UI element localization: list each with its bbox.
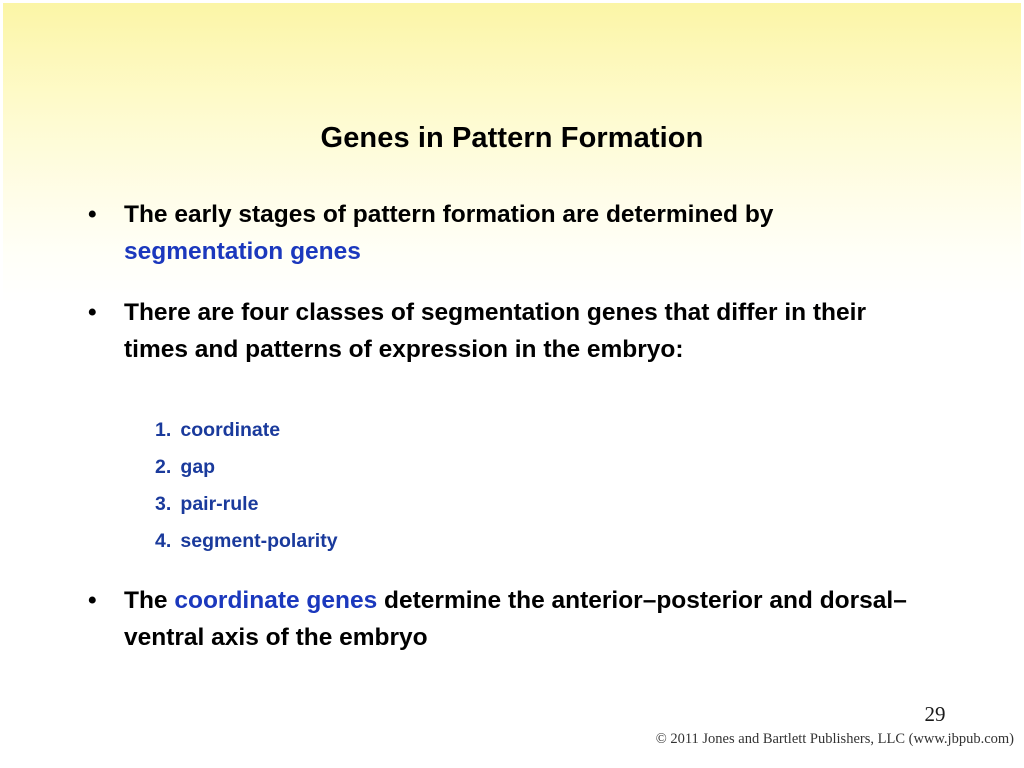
bullet-item-1: • The early stages of pattern formation … (86, 196, 922, 270)
list-item: 4. segment-polarity (155, 523, 655, 560)
page-title: Genes in Pattern Formation (0, 122, 1024, 155)
list-item-number: 1. (155, 412, 175, 449)
bullet-3-emphasis-text: coordinate genes (174, 587, 377, 614)
bullet-item-2: • There are four classes of segmentation… (86, 294, 922, 368)
slide-content: Genes in Pattern Formation • The early s… (0, 0, 1024, 768)
bullet-text-2: • There are four classes of segmentation… (86, 294, 922, 368)
segmentation-gene-class-list: 1. coordinate 2. gap 3. pair-rule 4. seg… (155, 412, 655, 560)
list-item-label: pair-rule (180, 493, 258, 515)
list-item-number: 3. (155, 486, 175, 523)
slide-canvas: Genes in Pattern Formation • The early s… (0, 0, 1024, 768)
bullet-point-icon: • (88, 582, 97, 619)
list-item-label: gap (180, 456, 215, 478)
bullet-2-lead-text: There are four classes of segmentation g… (124, 299, 866, 363)
list-item-label: coordinate (180, 419, 280, 441)
bullet-1-lead-text: The early stages of pattern formation ar… (124, 201, 773, 228)
list-item-number: 2. (155, 449, 175, 486)
list-item: 1. coordinate (155, 412, 655, 449)
list-item-label: segment-polarity (180, 530, 337, 552)
bullet-text-3: • The coordinate genes determine the ant… (86, 582, 922, 656)
page-number: 29 (890, 702, 980, 727)
bullet-text-1: • The early stages of pattern formation … (86, 196, 922, 270)
copyright-notice: © 2011 Jones and Bartlett Publishers, LL… (0, 731, 1014, 748)
bullet-point-icon: • (88, 196, 97, 233)
bullet-item-3: • The coordinate genes determine the ant… (86, 582, 922, 656)
list-item: 3. pair-rule (155, 486, 655, 523)
bullet-1-emphasis-text: segmentation genes (124, 238, 361, 265)
bullet-point-icon: • (88, 294, 97, 331)
list-item: 2. gap (155, 449, 655, 486)
bullet-3-lead-text: The (124, 587, 174, 614)
list-item-number: 4. (155, 523, 175, 560)
